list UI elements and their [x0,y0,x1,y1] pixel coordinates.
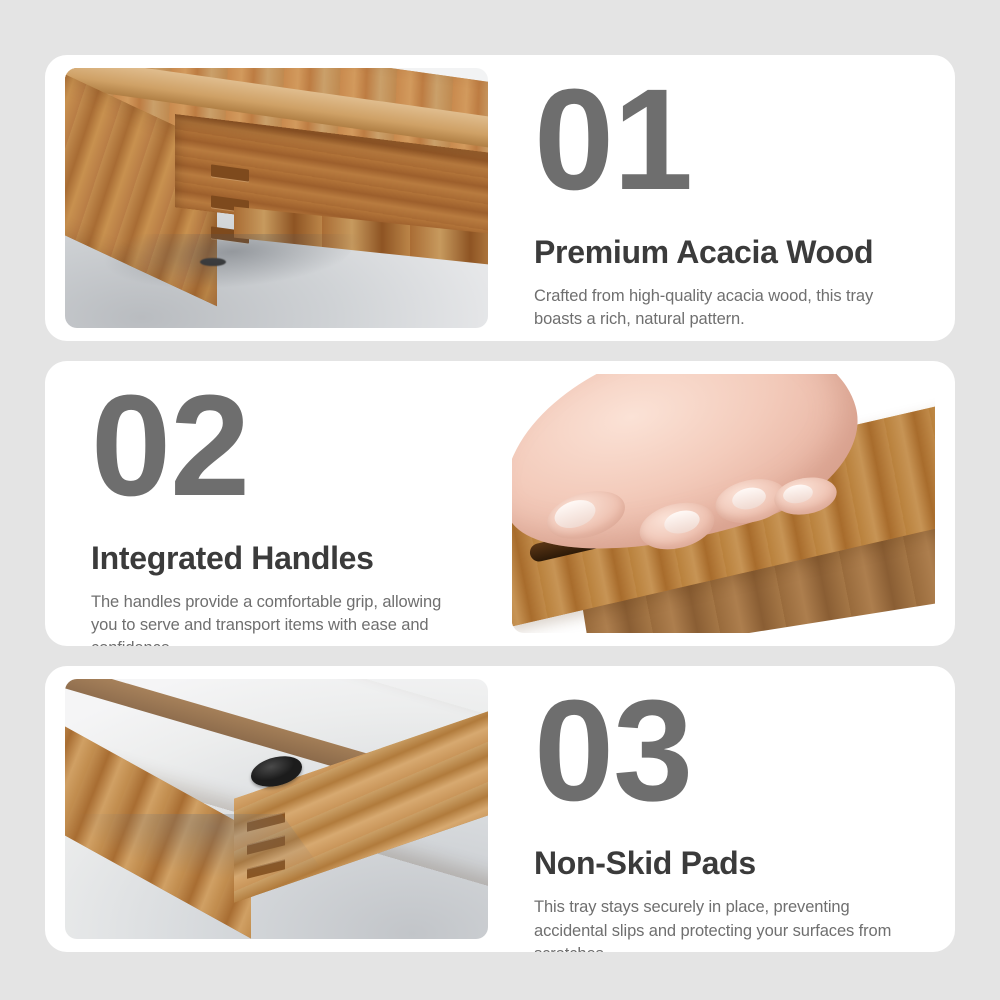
feature-number-02: 02 [91,387,468,505]
feature-description-01: Crafted from high-quality acacia wood, t… [534,285,909,332]
feature-description-02: The handles provide a comfortable grip, … [91,591,466,647]
feature-media-03 [45,666,488,952]
feature-text-02: 02 Integrated Handles The handles provid… [45,361,512,647]
feature-text-03: 03 Non-Skid Pads This tray stays securel… [488,666,955,952]
tray-underside-black-non-skid-pad-photo [65,679,488,939]
feature-title-03: Non-Skid Pads [534,846,911,882]
feature-number-01: 01 [534,81,911,199]
feature-media-02 [512,361,955,647]
feature-card-03: 03 Non-Skid Pads This tray stays securel… [45,666,955,952]
hand-gripping-integrated-wooden-handle-photo [512,374,935,634]
feature-number-03: 03 [534,692,911,810]
feature-title-02: Integrated Handles [91,541,468,577]
drop-shadow [65,234,367,322]
feature-card-02: 02 Integrated Handles The handles provid… [45,361,955,647]
feature-description-03: This tray stays securely in place, preve… [534,896,909,952]
feature-cards-page: 01 Premium Acacia Wood Crafted from high… [0,0,1000,1000]
feature-media-01 [45,55,488,341]
feature-text-01: 01 Premium Acacia Wood Crafted from high… [488,55,955,341]
feature-title-01: Premium Acacia Wood [534,235,911,271]
feature-card-01: 01 Premium Acacia Wood Crafted from high… [45,55,955,341]
wooden-tray-corner-dovetail-joint-photo [65,68,488,328]
